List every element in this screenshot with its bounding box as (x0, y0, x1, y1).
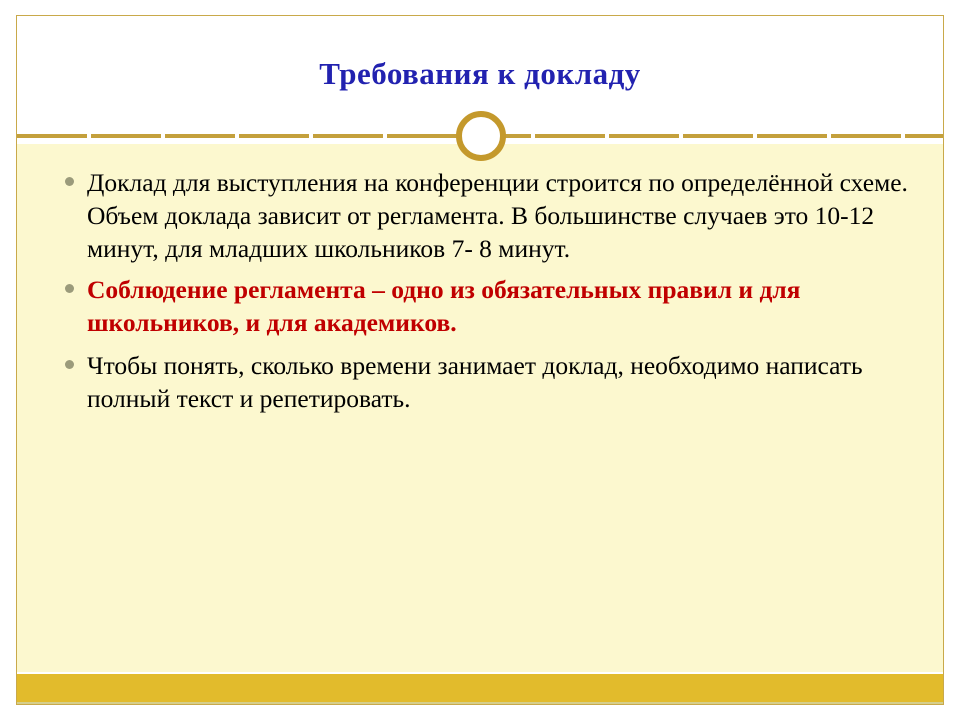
list-item: Чтобы понять, сколько времени занимает д… (39, 349, 909, 415)
bullet-dot-icon (65, 284, 74, 293)
bullet-text: Соблюдение регламента – одно из обязател… (87, 275, 800, 337)
slide-body-area: Доклад для выступления на конференции ст… (17, 144, 943, 672)
list-item: Соблюдение регламента – одно из обязател… (39, 273, 909, 339)
bullet-dot-icon (65, 177, 74, 186)
bullet-text: Доклад для выступления на конференции ст… (87, 168, 908, 263)
footer-rule (17, 702, 943, 704)
bullet-text: Чтобы понять, сколько времени занимает д… (87, 351, 863, 413)
bullet-list: Доклад для выступления на конференции ст… (39, 166, 909, 415)
footer-gold-bar (17, 674, 943, 702)
page-title: Требования к докладу (17, 56, 943, 92)
circle-ring-icon (456, 111, 506, 161)
bullet-dot-icon (65, 360, 74, 369)
list-item: Доклад для выступления на конференции ст… (39, 166, 909, 265)
presentation-slide: Требования к докладу Доклад для выступле… (16, 15, 944, 705)
slide-content: Доклад для выступления на конференции ст… (39, 166, 909, 419)
